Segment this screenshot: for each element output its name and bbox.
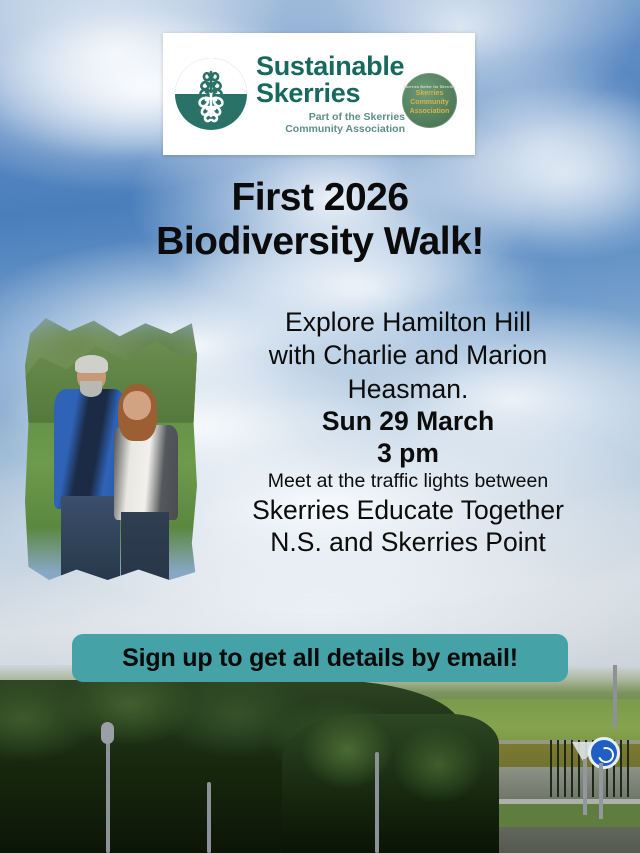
photo-woman-head [123, 391, 151, 420]
tree-circle-icon [175, 58, 247, 130]
photo-woman-legs [121, 512, 169, 580]
detail-line1: Explore Hamilton Hill [200, 306, 616, 339]
badge-line2: Community [410, 99, 449, 108]
lamp-head-icon [101, 722, 114, 744]
photo-man-legs [61, 496, 119, 580]
photo-man-hair [75, 355, 108, 373]
badge-line1: Skerries [416, 90, 444, 99]
sign-post [583, 759, 587, 815]
lamp-post [613, 665, 617, 729]
meeting-point-note: Meet at the traffic lights between [200, 470, 616, 494]
signup-cta-banner[interactable]: Sign up to get all details by email! [72, 634, 568, 682]
sustainable-skerries-logo: Sustainable Skerries Part of the Skerrie… [163, 33, 475, 155]
signup-cta-label: Sign up to get all details by email! [122, 644, 518, 673]
sign-post [599, 763, 603, 819]
logo-tagline-line1: Part of the Skerries [256, 111, 405, 123]
poster-canvas: Sustainable Skerries Part of the Skerrie… [0, 0, 640, 853]
skerries-community-association-badge: Skerries Better for Skerries Skerries Co… [402, 73, 457, 128]
badge-arc-text: Skerries Better for Skerries [403, 85, 455, 89]
meeting-location-line2: N.S. and Skerries Point [200, 526, 616, 559]
detail-line2: with Charlie and Marion [200, 339, 616, 372]
roundabout-sign-icon [588, 737, 620, 769]
lamp-post [207, 782, 211, 853]
badge-line3: Association [410, 108, 450, 117]
photo-man-beard [80, 381, 102, 397]
headline-line2: Biodiversity Walk! [0, 220, 640, 264]
meeting-location-line1: Skerries Educate Together [200, 494, 616, 527]
lamp-post [106, 729, 110, 853]
detail-line3: Heasman. [200, 373, 616, 406]
walk-leaders-photo [25, 318, 197, 580]
poster-headline: First 2026 Biodiversity Walk! [0, 176, 640, 265]
logo-tagline-line2: Community Association [256, 123, 405, 135]
event-time: 3 pm [200, 438, 616, 470]
lamp-post [375, 752, 379, 853]
event-details: Explore Hamilton Hill with Charlie and M… [200, 306, 616, 559]
headline-line1: First 2026 [0, 176, 640, 220]
event-date: Sun 29 March [200, 406, 616, 438]
landscape-background [0, 665, 640, 853]
hedgerow [282, 714, 500, 853]
